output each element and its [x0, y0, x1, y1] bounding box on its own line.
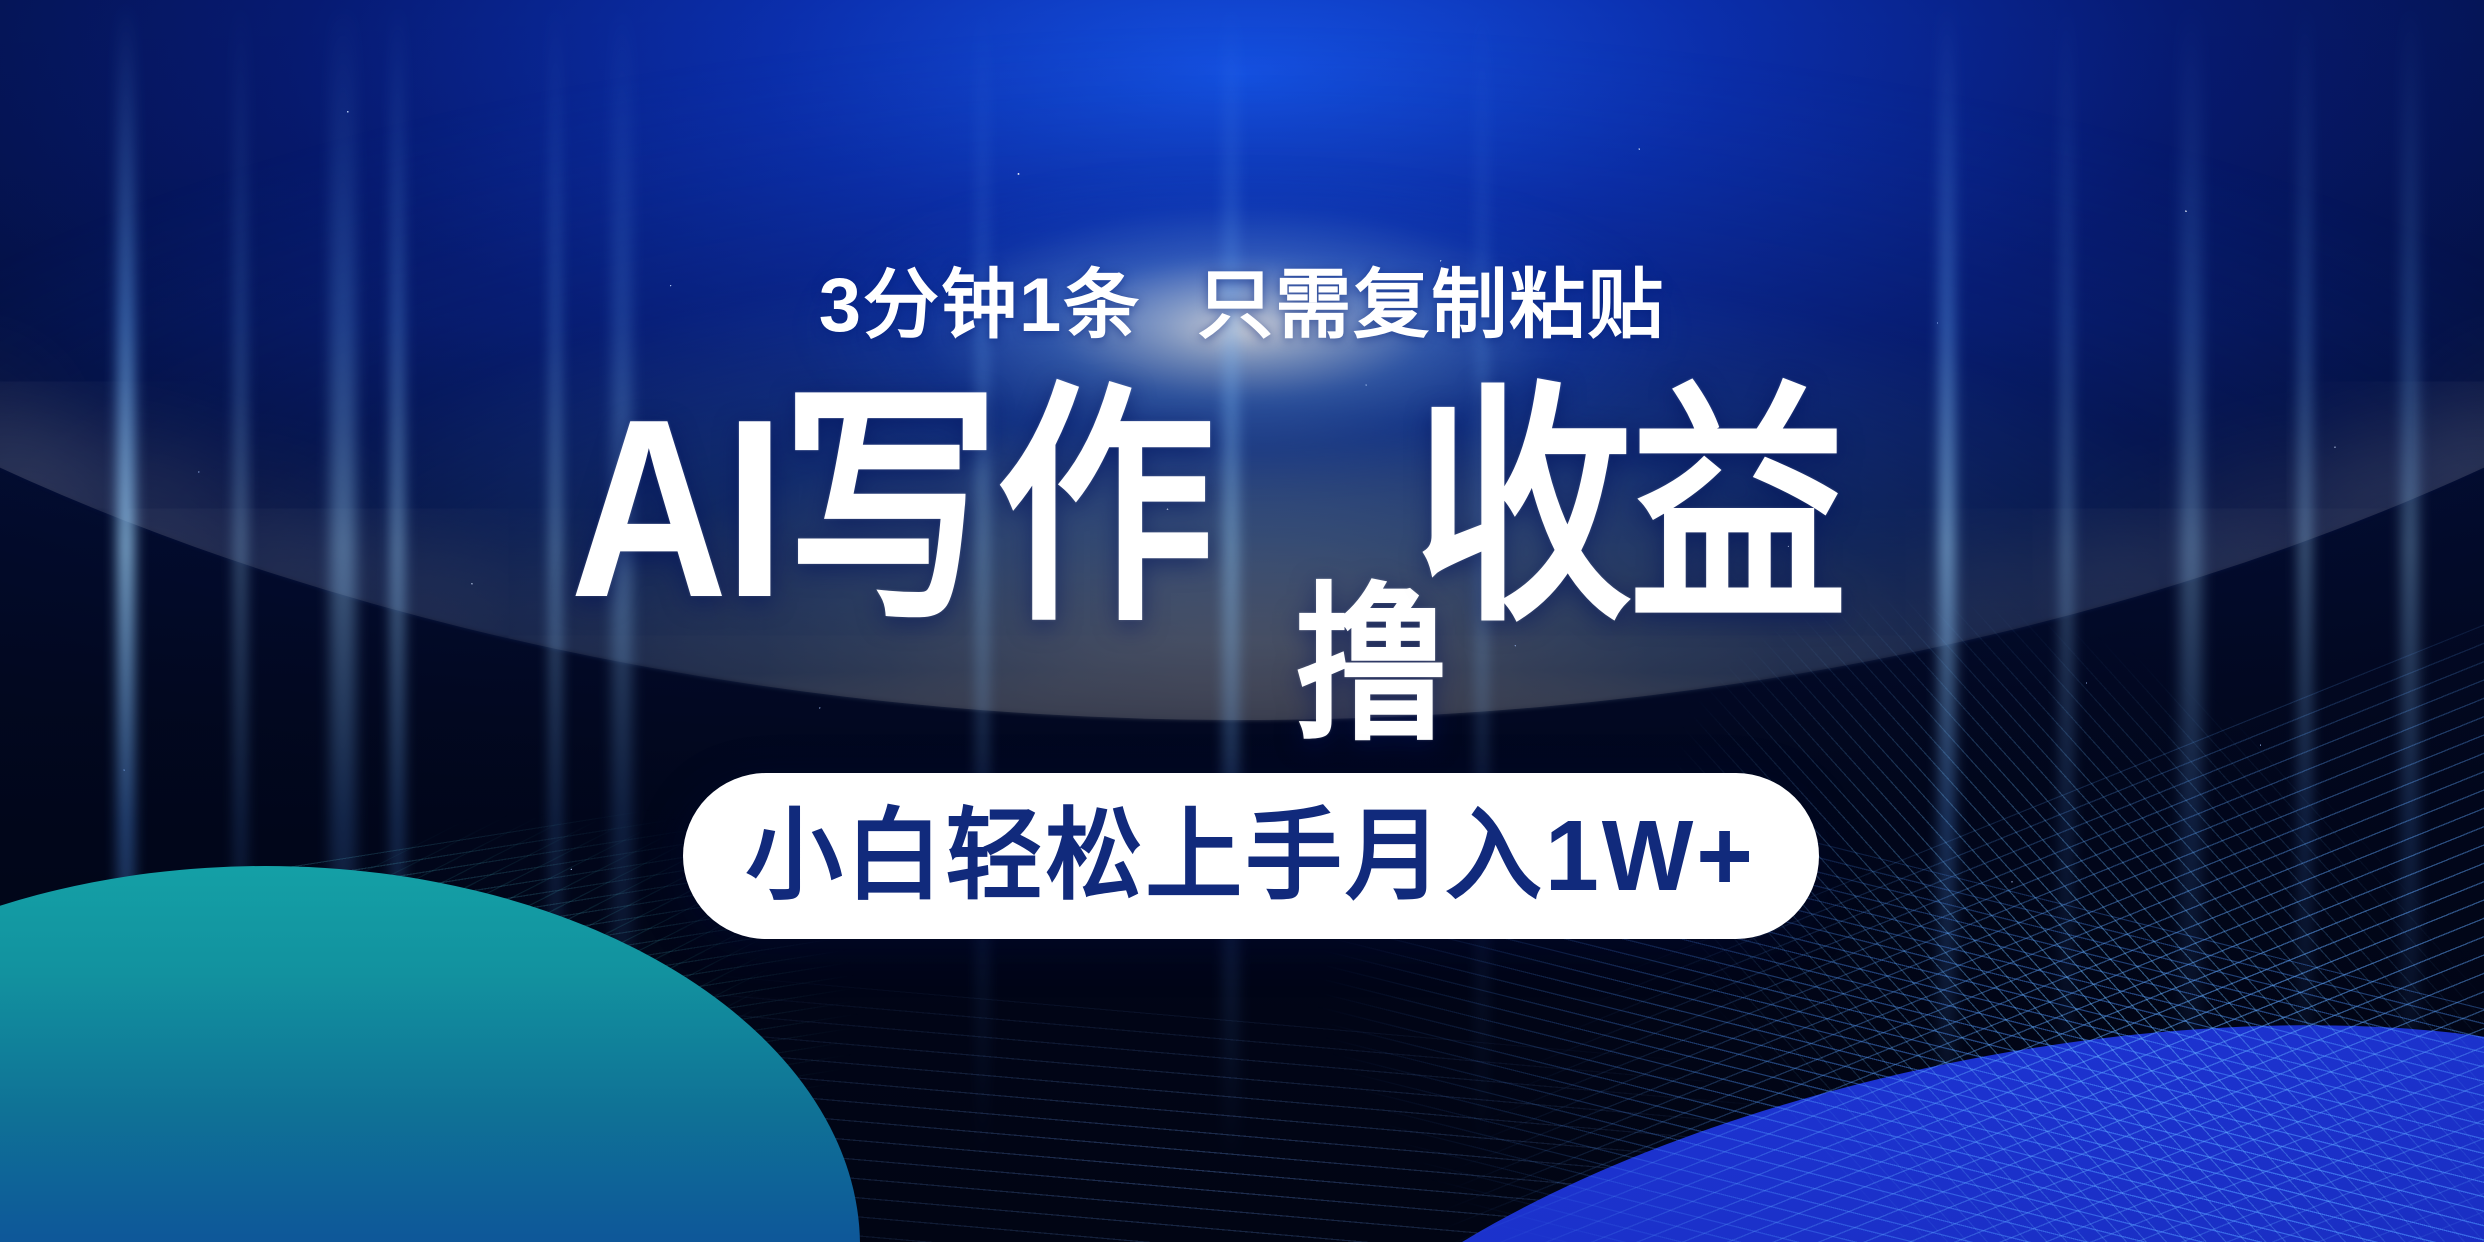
headline-part-left: AI写作 — [570, 392, 1212, 626]
badge-label: 小白轻松上手月入1W+ — [746, 806, 1756, 906]
headline: AI写作 撸 收益 — [0, 392, 2484, 752]
poster-content: 3分钟1条只需复制粘贴 AI写作 撸 收益 小白轻松上手月入1W+ — [0, 0, 2484, 1242]
tagline-left: 3分钟1条 — [819, 263, 1142, 348]
headline-part-right: 收益 — [1414, 392, 1844, 626]
tagline-right: 只需复制粘贴 — [1197, 263, 1665, 348]
poster-canvas: 3分钟1条只需复制粘贴 AI写作 撸 收益 小白轻松上手月入1W+ — [0, 0, 2484, 1242]
badge-pill: 小白轻松上手月入1W+ — [683, 773, 1819, 939]
tagline: 3分钟1条只需复制粘贴 — [0, 268, 2484, 344]
